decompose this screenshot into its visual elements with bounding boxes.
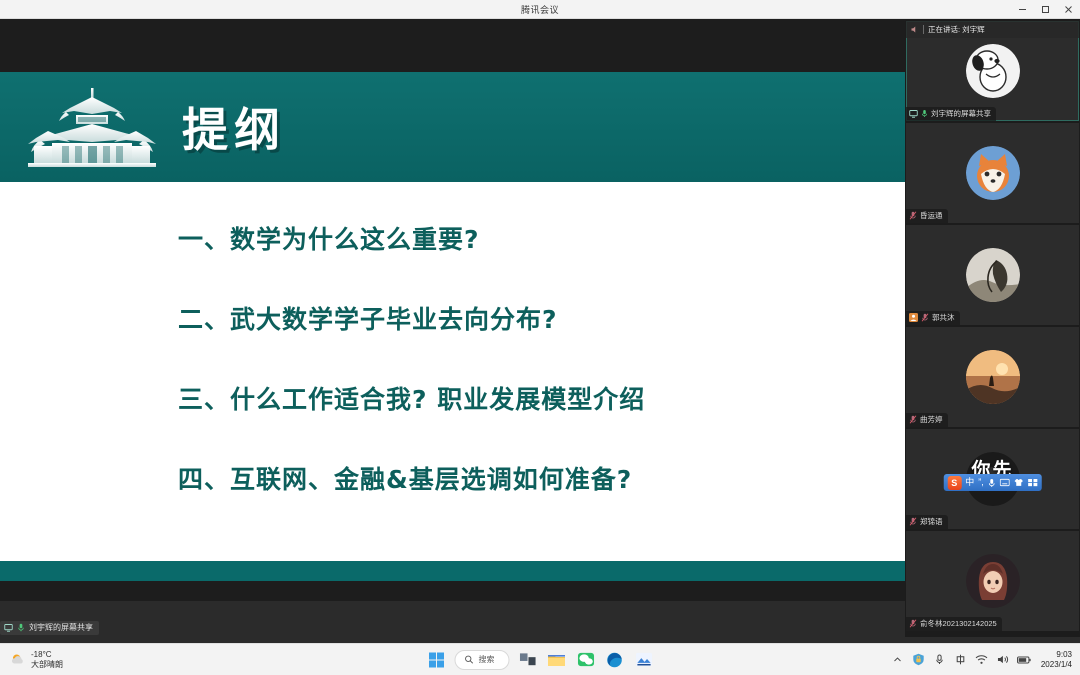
wifi-icon[interactable] [975, 653, 989, 667]
presenter-share-label: 刘宇辉的屏幕共享 [29, 622, 93, 633]
outline-item-2: 二、武大数学学子毕业去向分布? [178, 300, 845, 336]
participant-name-bar: 俞冬林2021302142025 [906, 617, 1002, 631]
microphone-muted-icon [909, 415, 917, 424]
anime-girl-avatar [966, 554, 1020, 608]
presenter-share-badge: 刘宇辉的屏幕共享 [0, 621, 99, 635]
volume-icon[interactable] [996, 653, 1010, 667]
participant-name-bar: 郑锦语 [906, 515, 948, 529]
window-controls [1011, 0, 1080, 19]
windows-start-icon[interactable] [426, 649, 448, 671]
slide-footer-bar [0, 561, 905, 581]
edge-icon[interactable] [604, 649, 626, 671]
microphone-icon [921, 109, 928, 118]
participant-name: 俞冬林2021302142025 [920, 618, 997, 629]
search-input[interactable]: 搜索 [455, 650, 510, 670]
taskbar-center-group: 搜索 [426, 649, 655, 671]
task-view-icon[interactable] [517, 649, 539, 671]
microphone-icon[interactable] [933, 653, 947, 667]
monitor-icon [909, 109, 918, 118]
system-tray: 9:03 2023/1/4 [891, 650, 1072, 669]
slide-header: 提纲 [0, 72, 905, 182]
ime-voice-input-icon[interactable] [988, 478, 996, 488]
fox-avatar [966, 146, 1020, 200]
close-button[interactable] [1057, 0, 1080, 19]
participant-name: 昏运通 [920, 210, 943, 221]
wuhan-university-gate-logo [18, 84, 168, 170]
weather-temperature: -18°C [31, 650, 63, 659]
chevron-up-icon[interactable] [891, 653, 905, 667]
participant-tile-6[interactable]: 俞冬林2021302142025 [906, 531, 1079, 631]
speaking-label: 正在讲话: 刘宇辉 [928, 24, 985, 35]
microphone-muted-icon [909, 619, 917, 628]
maximize-button[interactable] [1034, 0, 1057, 19]
weather-widget[interactable]: -18°C 大部晴朗 [0, 650, 180, 668]
battery-icon[interactable] [1017, 653, 1031, 667]
participant-name-bar: 郭共沐 [906, 311, 960, 325]
sogou-logo-icon[interactable]: S [947, 476, 961, 490]
outline-item-3: 三、什么工作适合我? 职业发展模型介绍 [178, 380, 845, 416]
minimize-button[interactable] [1011, 0, 1034, 19]
presentation-slide: 提纲 一、数学为什么这么重要? 二、武大数学学子毕业去向分布? 三、什么工作适合… [0, 72, 905, 581]
ime-mode-chinese[interactable]: 中 [965, 478, 974, 487]
clock-time: 9:03 [1056, 650, 1072, 660]
partly-sunny-icon [10, 652, 26, 668]
participant-tile-1[interactable]: 正在讲话: 刘宇辉 [906, 21, 1079, 121]
ime-skin-icon[interactable] [1014, 478, 1024, 487]
microphone-muted-icon [921, 313, 929, 322]
speaker-icon [910, 25, 919, 34]
microphone-muted-icon [909, 211, 917, 220]
sunset-avatar [966, 350, 1020, 404]
participant-name: 郭共沐 [932, 312, 955, 323]
participant-tile-4[interactable]: 曲芳婷 [906, 327, 1079, 427]
ime-punctuation-icon[interactable]: ”, [978, 478, 984, 487]
ime-toolbox-icon[interactable] [1028, 478, 1038, 487]
screen-root: 腾讯会议 [0, 0, 1080, 675]
horse-avatar [966, 248, 1020, 302]
participant-name: 刘宇辉的屏幕共享 [931, 108, 991, 119]
microphone-icon [17, 623, 25, 632]
taskbar-clock[interactable]: 9:03 2023/1/4 [1041, 650, 1072, 669]
outline-item-1: 一、数学为什么这么重要? [178, 220, 845, 256]
participant-name-bar: 曲芳婷 [906, 413, 948, 427]
window-titlebar: 腾讯会议 [0, 0, 1080, 19]
participant-name: 曲芳婷 [920, 414, 943, 425]
photos-icon[interactable] [633, 649, 655, 671]
participant-tile-3[interactable]: 郭共沐 [906, 225, 1079, 325]
weather-condition: 大部晴朗 [31, 660, 63, 669]
participant-name: 郑锦语 [920, 516, 943, 527]
windows-taskbar: -18°C 大部晴朗 搜索 [0, 643, 1080, 675]
speaking-indicator-bar: 正在讲话: 刘宇辉 [906, 21, 1079, 38]
search-placeholder: 搜索 [479, 654, 495, 665]
ime-chinese-icon[interactable] [954, 653, 968, 667]
slide-title: 提纲 [182, 94, 286, 160]
file-explorer-icon[interactable] [546, 649, 568, 671]
snoopy-avatar [966, 44, 1020, 98]
slide-body: 一、数学为什么这么重要? 二、武大数学学子毕业去向分布? 三、什么工作适合我? … [0, 182, 905, 581]
search-icon [465, 655, 474, 664]
participant-filmstrip[interactable]: 正在讲话: 刘宇辉 [905, 19, 1080, 637]
shared-screen-area: 提纲 一、数学为什么这么重要? 二、武大数学学子毕业去向分布? 三、什么工作适合… [0, 19, 905, 637]
participant-name-bar: 刘宇辉的屏幕共享 [906, 107, 996, 121]
monitor-icon [4, 623, 13, 632]
participant-tile-5[interactable]: 你先 S 中 ”, [906, 429, 1079, 529]
clock-date: 2023/1/4 [1041, 660, 1072, 670]
security-icon[interactable] [912, 653, 926, 667]
window-title: 腾讯会议 [521, 3, 559, 16]
microphone-muted-icon [909, 517, 917, 526]
meeting-canvas: 提纲 一、数学为什么这么重要? 二、武大数学学子毕业去向分布? 三、什么工作适合… [0, 19, 1080, 643]
host-icon [909, 313, 918, 322]
sogou-ime-toolbar[interactable]: S 中 ”, [943, 474, 1042, 491]
ime-keyboard-icon[interactable] [1000, 478, 1010, 487]
divider [923, 25, 924, 34]
outline-item-4: 四、互联网、金融&基层选调如何准备? [178, 460, 845, 496]
share-bottom-strip: 刘宇辉的屏幕共享 [0, 601, 905, 637]
participant-name-bar: 昏运通 [906, 209, 948, 223]
wechat-icon[interactable] [575, 649, 597, 671]
participant-tile-2[interactable]: 昏运通 [906, 123, 1079, 223]
